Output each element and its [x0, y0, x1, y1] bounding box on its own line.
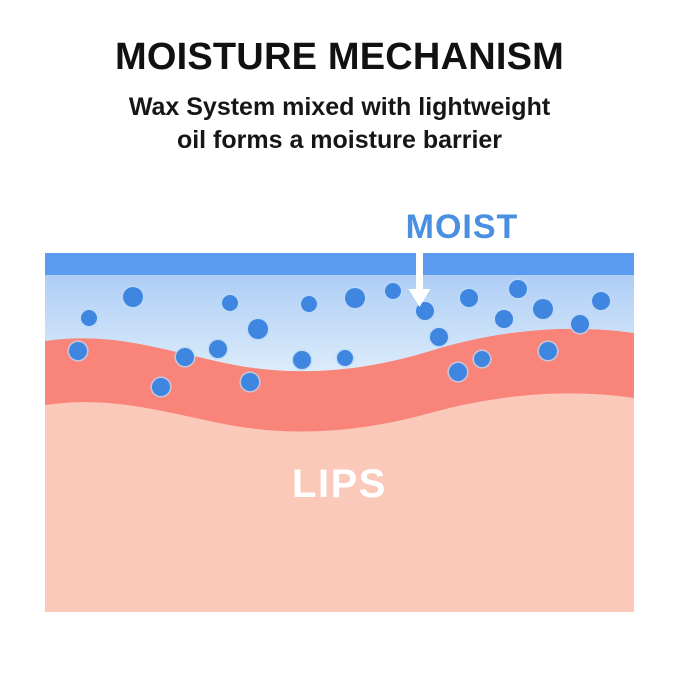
moisture-droplet	[533, 299, 553, 319]
moisture-droplet	[241, 373, 259, 391]
moisture-droplet	[337, 350, 353, 366]
moisture-droplet	[69, 342, 87, 360]
moisture-droplet	[539, 342, 557, 360]
moisture-droplet	[222, 295, 238, 311]
moisture-droplet	[592, 292, 610, 310]
diagram-svg	[45, 253, 634, 612]
moisture-droplet	[449, 363, 467, 381]
moisture-droplet	[176, 348, 194, 366]
infographic-canvas: MOISTURE MECHANISM Wax System mixed with…	[0, 0, 679, 679]
moisture-droplet	[293, 351, 311, 369]
page-subtitle: Wax System mixed with lightweight oil fo…	[0, 91, 679, 158]
lips-label: LIPS	[45, 464, 634, 504]
moisture-droplet	[301, 296, 317, 312]
barrier-bar-layer	[45, 253, 634, 275]
moisture-droplet	[152, 378, 170, 396]
page-subtitle-line-2: oil forms a moisture barrier	[0, 124, 679, 157]
moisture-droplet	[460, 289, 478, 307]
heading-block: MOISTURE MECHANISM Wax System mixed with…	[0, 36, 679, 157]
moisture-droplet	[571, 315, 589, 333]
moisture-droplet	[123, 287, 143, 307]
moisture-droplet	[385, 283, 401, 299]
moisture-droplet	[209, 340, 227, 358]
moisture-droplet	[345, 288, 365, 308]
moist-label: MOIST	[382, 210, 542, 244]
moisture-droplet	[495, 310, 513, 328]
page-title: MOISTURE MECHANISM	[0, 36, 679, 79]
moisture-droplet	[81, 310, 97, 326]
moisture-droplet	[430, 328, 448, 346]
page-subtitle-line-1: Wax System mixed with lightweight	[0, 91, 679, 124]
lip-cross-section-diagram: LIPS	[45, 253, 634, 612]
moisture-droplet	[509, 280, 527, 298]
moisture-droplet	[248, 319, 268, 339]
moisture-droplet	[474, 351, 490, 367]
